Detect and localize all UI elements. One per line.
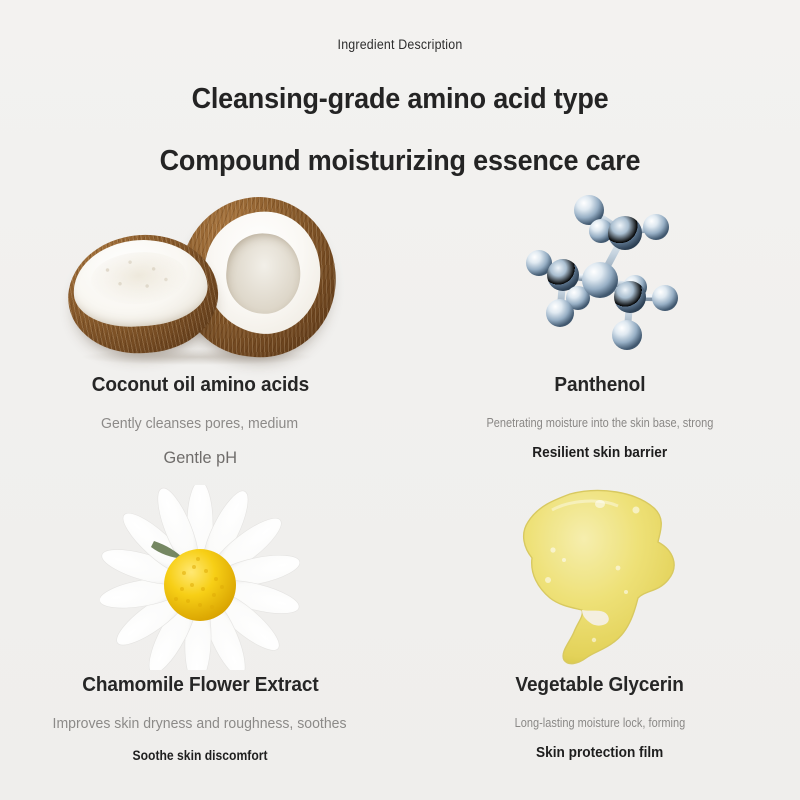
ingredient-tag: Resilient skin barrier	[533, 445, 668, 461]
ingredient-card-coconut-oil-amino-acids: Coconut oil amino acids Gently cleanses …	[0, 182, 400, 482]
ingredient-subtitle: Long-lasting moisture lock, forming	[488, 715, 711, 732]
daisy-flower-icon	[100, 485, 300, 670]
molecule-model-image	[400, 182, 800, 372]
ingredient-title: Vegetable Glycerin	[516, 674, 684, 697]
ingredient-tag: Soothe skin discomfort	[132, 748, 267, 763]
gel-smear-icon	[508, 482, 693, 672]
chamomile-daisy-image	[0, 482, 400, 672]
ingredient-card-vegetable-glycerin: Vegetable Glycerin Long-lasting moisture…	[400, 482, 800, 782]
ingredient-subtitle: Improves skin dryness and roughness, soo…	[24, 715, 376, 735]
ingredient-tag: Gentle pH	[163, 448, 236, 468]
headline-line-2: Compound moisturizing essence care	[28, 145, 772, 178]
coconut-half-front-icon	[64, 230, 222, 358]
ingredient-card-chamomile-flower-extract: Chamomile Flower Extract Improves skin d…	[0, 482, 400, 782]
ingredient-subtitle: Penetrating moisture into the skin base,…	[460, 415, 740, 432]
eyebrow-label: Ingredient Description	[32, 37, 768, 52]
coconut-halves-image	[0, 182, 400, 372]
ingredient-title: Chamomile Flower Extract	[82, 674, 318, 697]
ingredient-card-panthenol: Panthenol Penetrating moisture into the …	[400, 182, 800, 482]
ingredient-subtitle: Gently cleanses pores, medium	[72, 415, 327, 435]
ingredient-title: Coconut oil amino acids	[91, 374, 308, 397]
ingredient-tag: Skin protection film	[536, 745, 663, 761]
molecule-icon	[505, 185, 695, 370]
ingredient-title: Panthenol	[555, 374, 646, 397]
glycerin-gel-smear-image	[400, 482, 800, 672]
headline-line-1: Cleansing-grade amino acid type	[28, 83, 772, 116]
ingredient-description-page: Ingredient Description Cleansing-grade a…	[0, 0, 800, 800]
ingredient-grid: Coconut oil amino acids Gently cleanses …	[0, 182, 800, 782]
